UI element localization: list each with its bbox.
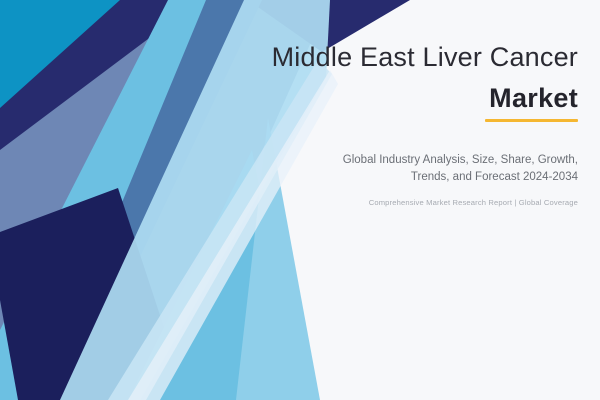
page-title-line2: Market (489, 83, 578, 114)
subtitle-line1: Global Industry Analysis, Size, Share, G… (343, 154, 578, 166)
page-title-line2-wrap: Market (158, 83, 578, 122)
subtitle: Global Industry Analysis, Size, Share, G… (278, 152, 578, 185)
subtitle-line2: Trends, and Forecast 2024-2034 (411, 171, 578, 183)
cover-text-block: Middle East Liver Cancer Market Global I… (0, 0, 600, 400)
report-cover: Middle East Liver Cancer Market Global I… (0, 0, 600, 400)
title-accent-rule (485, 119, 578, 122)
page-title-line1: Middle East Liver Cancer (158, 42, 578, 73)
tagline: Comprehensive Market Research Report | G… (258, 198, 578, 207)
